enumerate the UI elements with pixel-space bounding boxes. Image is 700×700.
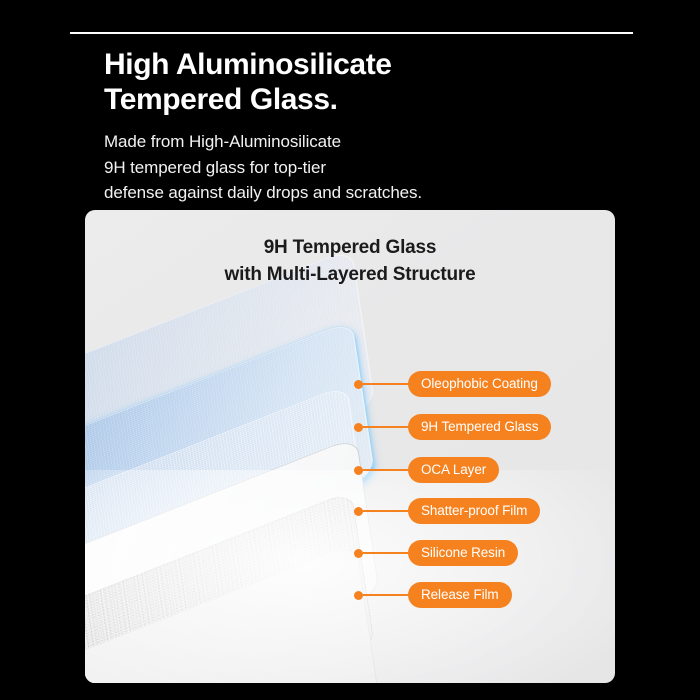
page-title: High Aluminosilicate Tempered Glass. (104, 47, 624, 118)
callout-label-pill: Silicone Resin (408, 540, 518, 567)
callout-leader-line (363, 552, 408, 554)
callout-3: OCA Layer (354, 458, 499, 482)
callout-dot-icon (354, 507, 363, 516)
callout-dot-icon (354, 423, 363, 432)
illustration-panel: 9H Tempered Glass with Multi-Layered Str… (85, 210, 615, 683)
callout-1: Oleophobic Coating (354, 372, 551, 396)
callout-label-pill: Release Film (408, 582, 512, 609)
callout-dot-icon (354, 466, 363, 475)
header-text-block: High Aluminosilicate Tempered Glass. Mad… (104, 47, 624, 206)
callout-leader-line (363, 383, 408, 385)
callout-label-pill: Oleophobic Coating (408, 371, 551, 398)
callout-list: Oleophobic Coating9H Tempered GlassOCA L… (85, 210, 615, 683)
callout-5: Silicone Resin (354, 541, 518, 565)
callout-dot-icon (354, 591, 363, 600)
callout-dot-icon (354, 549, 363, 558)
callout-6: Release Film (354, 583, 512, 607)
callout-leader-line (363, 469, 408, 471)
callout-label-pill: 9H Tempered Glass (408, 414, 551, 441)
callout-leader-line (363, 426, 408, 428)
header-divider (70, 32, 633, 34)
callout-dot-icon (354, 380, 363, 389)
callout-label-pill: OCA Layer (408, 457, 499, 484)
callout-label-pill: Shatter-proof Film (408, 498, 540, 525)
page-subtitle: Made from High-Aluminosilicate 9H temper… (104, 129, 624, 206)
callout-leader-line (363, 594, 408, 596)
callout-leader-line (363, 510, 408, 512)
callout-4: Shatter-proof Film (354, 499, 540, 523)
callout-2: 9H Tempered Glass (354, 415, 551, 439)
